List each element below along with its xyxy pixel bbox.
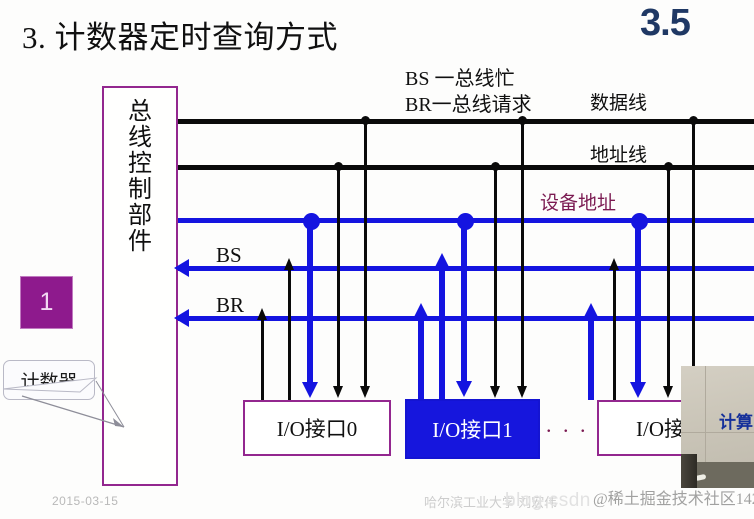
wire-bs-up-1 <box>439 268 445 400</box>
bus-ctrl-char-1: 线 <box>112 126 168 152</box>
wire-bs-up-0 <box>288 268 291 400</box>
label-data-bus: 数据线 <box>590 88 647 115</box>
arrowhead-addr-to-io-2 <box>663 386 673 398</box>
pip-wall-text: 计算 <box>719 408 753 433</box>
pip-video-overlay[interactable]: 计算 <box>681 366 754 488</box>
wire-device-address-drop-0 <box>307 221 313 388</box>
wire-addr-trunk-2 <box>667 167 670 389</box>
junction-dot-data-2 <box>689 116 698 125</box>
wire-device-address-drop-1 <box>461 221 467 387</box>
bus-control-unit-label: 总 线 控 制 部 件 <box>112 100 168 255</box>
io-interface-box-1[interactable]: I/O接口1 <box>405 399 540 459</box>
bus-ctrl-char-3: 制 <box>112 178 168 204</box>
legend-br: BR一总线请求 <box>405 88 532 117</box>
wire-data-trunk-1 <box>521 121 524 389</box>
io-interface-box-0[interactable]: I/O接口0 <box>243 400 391 456</box>
junction-dot-data-1 <box>518 116 527 125</box>
counter-chip: 1 <box>20 276 73 329</box>
junction-dot-addr-0 <box>334 162 343 171</box>
counter-callout-label: 计数器 <box>3 360 95 400</box>
wire-addr-trunk-0 <box>337 167 340 389</box>
label-br-signal: BR <box>216 293 244 318</box>
arrowhead-br-up-0 <box>257 308 267 320</box>
junction-dot-data-0 <box>361 116 370 125</box>
wire-br-up-1 <box>418 318 424 400</box>
arrowhead-data-to-io-1 <box>517 386 527 398</box>
page-title: 3. 计数器定时查询方式 <box>22 12 338 57</box>
bus-ctrl-char-2: 控 <box>112 152 168 178</box>
wire-br-up-2 <box>588 318 594 400</box>
arrowhead-device-address-io-1 <box>456 381 472 397</box>
csdn-watermark: blog.csdn <box>505 490 591 512</box>
bus-ctrl-char-5: 件 <box>112 230 168 256</box>
label-address-bus: 地址线 <box>590 140 647 167</box>
legend-bs: BS 一总线忙 <box>405 62 514 91</box>
arrowhead-br-up-1 <box>413 303 429 319</box>
arrowhead-device-address-io-2 <box>630 382 646 398</box>
pip-person-silhouette <box>681 454 697 488</box>
junction-dot-addr-2 <box>664 162 673 171</box>
slide-number: 3.5 <box>640 2 690 45</box>
arrowhead-bs-to-controller <box>174 259 189 277</box>
arrowhead-bs-up-1 <box>434 253 450 269</box>
slide-canvas: 3. 计数器定时查询方式 3.5 BS 一总线忙 BR一总线请求 数据线 地址线… <box>0 0 754 519</box>
arrowhead-br-to-controller <box>174 309 189 327</box>
wire-addr-trunk-1 <box>494 167 497 389</box>
wire-data-trunk-0 <box>364 121 367 389</box>
wire-data-trunk-2 <box>692 121 695 389</box>
label-bs-signal: BS <box>216 243 242 268</box>
arrowhead-addr-to-io-0 <box>333 386 343 398</box>
arrowhead-br-up-2 <box>583 303 599 319</box>
bus-ctrl-char-0: 总 <box>112 100 168 126</box>
arrowhead-addr-to-io-1 <box>490 386 500 398</box>
arrowhead-device-address-io-0 <box>302 382 318 398</box>
wire-bs-up-2 <box>613 268 616 400</box>
wire-br-up-0 <box>261 318 264 400</box>
io-interface-ellipsis: . . . <box>546 412 589 438</box>
arrowhead-bs-up-2 <box>609 258 619 270</box>
juejin-watermark: @稀土掘金技术社区142368 <box>593 485 754 509</box>
junction-dot-addr-1 <box>491 162 500 171</box>
arrowhead-bs-up-0 <box>284 258 294 270</box>
arrowhead-data-to-io-0 <box>360 386 370 398</box>
wire-device-address-drop-2 <box>635 221 641 388</box>
slide-date: 2015-03-15 <box>52 494 118 508</box>
label-device-address: 设备地址 <box>540 188 616 215</box>
bus-ctrl-char-4: 部 <box>112 204 168 230</box>
wire-data-bus-horizontal <box>178 119 754 124</box>
